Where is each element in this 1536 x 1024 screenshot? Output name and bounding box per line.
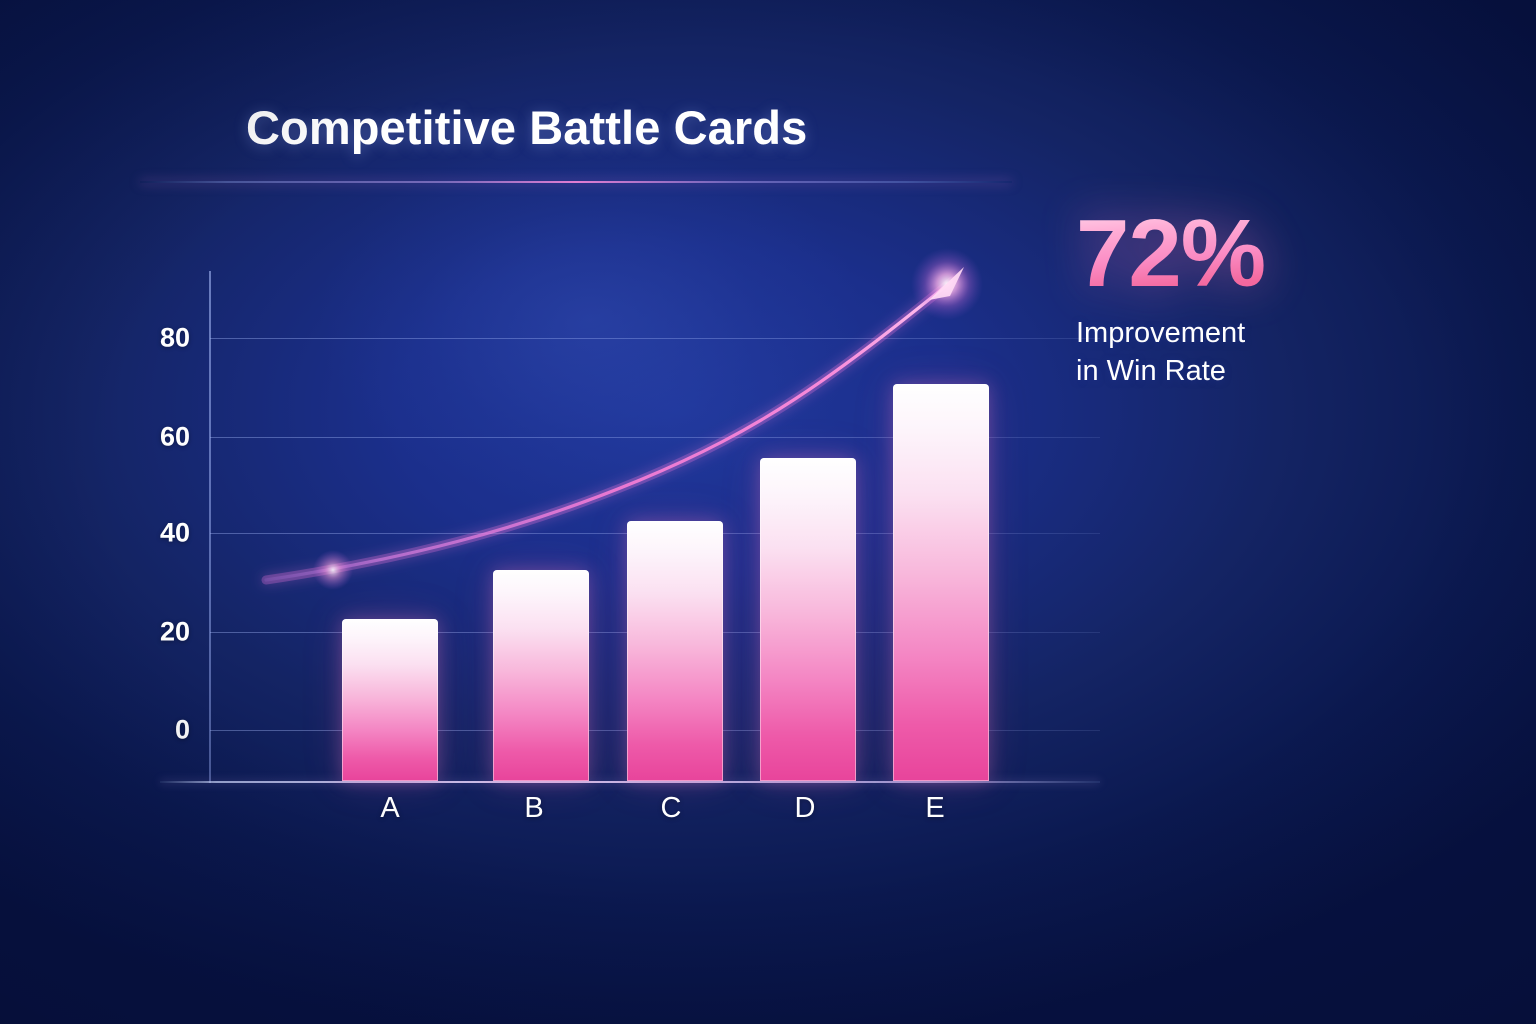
trend-node-start	[313, 550, 353, 590]
bar-b[interactable]	[493, 570, 589, 781]
bar-chart: 80 60 40 20 0	[0, 0, 1536, 1024]
x-axis-tick-label-a: A	[360, 792, 420, 825]
bar-d[interactable]	[760, 458, 856, 781]
kpi-value: 72%	[1076, 206, 1406, 302]
y-axis-line	[209, 271, 211, 783]
x-axis-tick-label-c: C	[641, 792, 701, 825]
y-axis-tick-label-0: 0	[130, 715, 190, 746]
trend-arrow-glow	[911, 248, 983, 320]
kpi-caption: Improvement in Win Rate	[1076, 314, 1406, 391]
bar-c[interactable]	[627, 521, 723, 781]
y-axis-tick-label-60: 60	[130, 422, 190, 453]
y-axis-tick-label-20: 20	[130, 617, 190, 648]
bar-a[interactable]	[342, 619, 438, 781]
bar-e[interactable]	[893, 384, 989, 781]
y-axis-tick-label-80: 80	[130, 323, 190, 354]
x-axis-tick-label-e: E	[905, 792, 965, 825]
kpi-caption-line-2: in Win Rate	[1076, 352, 1406, 390]
gridline-80	[210, 338, 1100, 339]
x-axis-tick-label-b: B	[504, 792, 564, 825]
kpi-caption-line-1: Improvement	[1076, 314, 1406, 352]
trend-arrowhead	[929, 267, 964, 300]
y-axis-tick-label-40: 40	[130, 518, 190, 549]
chart-canvas: Competitive Battle Cards 80 60 40 20 0	[0, 0, 1536, 1024]
x-axis-line	[160, 781, 1100, 783]
kpi-callout: 72% Improvement in Win Rate	[1076, 206, 1406, 391]
x-axis-tick-label-d: D	[775, 792, 835, 825]
